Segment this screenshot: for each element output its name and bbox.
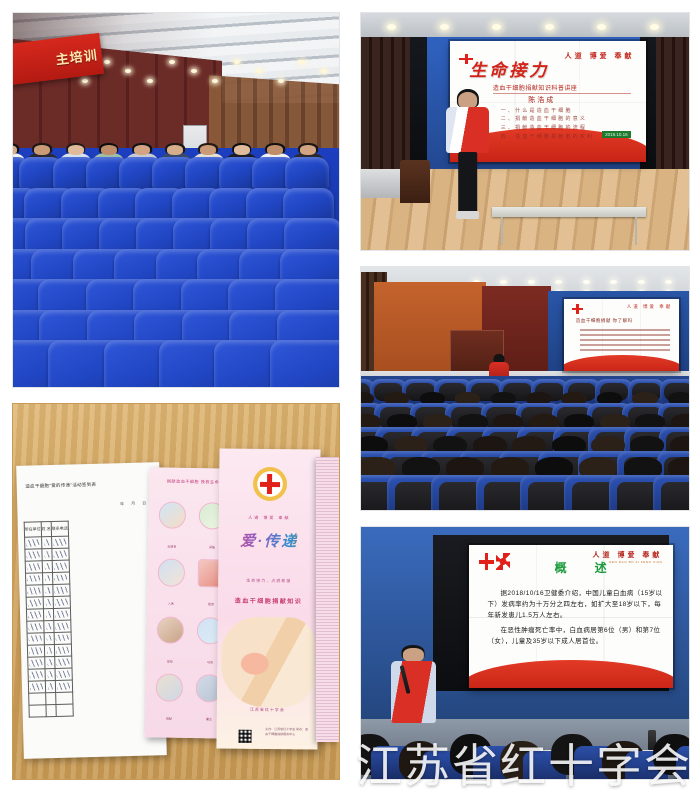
audience-head xyxy=(101,145,117,155)
overview-slide-scene: 人道 博爱 奉献 REN DAO BO AI FENG XIAN 概 述 据20… xyxy=(361,527,689,779)
brochure-organization: 江苏省红十字会 xyxy=(217,706,318,713)
handwriting-mark xyxy=(56,658,70,666)
slide-date-stamp: 2019.10.16 xyxy=(602,131,631,138)
panel-desk-forms-brochures[interactable]: 造血干细胞"爱的传递"活动签到表 年 月 日 所在单位 姓 名 联系电话 捐献造… xyxy=(12,403,340,780)
signin-table: 所在单位 姓 名 联系电话 xyxy=(23,520,73,717)
panel-speaker-overview-slide[interactable]: 人道 博爱 奉献 REN DAO BO AI FENG XIAN 概 述 据20… xyxy=(360,526,690,780)
hall-rear-scene: 人道 博爱 奉献 造血干细胞捐献 你了解吗 xyxy=(361,267,689,510)
auditorium-seat xyxy=(653,475,689,510)
cell-phone xyxy=(52,560,69,572)
ceiling-light-icon xyxy=(299,60,305,64)
cell-empty xyxy=(45,704,55,716)
stage-scene: 人道 博爱 奉献 生命接力 造血干细胞捐献知识科普讲座 陈浩成 一、什么是造血干… xyxy=(361,13,689,250)
brochure-subtitle: 生命接力，点燃希望 xyxy=(219,577,320,584)
cell-phone xyxy=(51,536,68,548)
ceiling-light-icon xyxy=(212,79,218,83)
ceiling-light-icon xyxy=(597,24,606,30)
brochure-photo-cell: 体检 xyxy=(151,612,189,667)
handwriting-mark xyxy=(27,575,40,582)
red-cross-icon xyxy=(479,553,493,570)
audience-head xyxy=(167,145,183,155)
dark-column-left xyxy=(410,37,426,174)
speaker-head xyxy=(403,648,423,661)
desk-scene: 造血干细胞"爱的传递"活动签到表 年 月 日 所在单位 姓 名 联系电话 捐献造… xyxy=(13,404,339,779)
cell-unit xyxy=(25,572,42,584)
handwriting-mark xyxy=(26,539,40,547)
handwriting-mark xyxy=(55,634,68,641)
cell-unit xyxy=(25,584,42,596)
handwriting-mark xyxy=(56,646,69,653)
red-cross-emblem-icon xyxy=(496,553,510,570)
presenter-table xyxy=(492,207,646,216)
brochure-credits: 主办：江苏省红十字会 承办：造血干细胞捐献服务中心 xyxy=(265,727,310,737)
text-line xyxy=(580,339,670,341)
ceiling-light-icon xyxy=(169,60,175,64)
column-header-unit: 所在单位 xyxy=(23,521,40,536)
ceiling-light-icon xyxy=(583,280,590,284)
brochure-stack-edge xyxy=(316,457,339,742)
panel-hall-rear-view[interactable]: 人道 博爱 奉献 造血干细胞捐献 你了解吗 xyxy=(360,266,690,511)
signin-sheet-title: 造血干细胞"爱的传递"活动签到表 xyxy=(25,481,96,489)
auditorium-seat xyxy=(270,340,339,387)
ceiling-light-icon xyxy=(638,280,645,284)
audience-heads-row xyxy=(361,724,689,779)
handwriting-mark xyxy=(28,623,41,630)
ceiling-light-icon xyxy=(147,79,153,83)
cell-phone xyxy=(55,680,72,692)
handwriting-mark xyxy=(46,623,51,630)
handwriting-mark xyxy=(26,551,39,558)
projection-screen: 人道 博爱 奉献 REN DAO BO AI FENG XIAN 概 述 据20… xyxy=(469,545,672,689)
audience-head xyxy=(200,145,216,155)
handwriting-mark xyxy=(55,622,68,629)
audience-head xyxy=(67,145,83,155)
audience-head xyxy=(300,145,316,155)
cell-phone xyxy=(53,632,70,644)
column-header-phone: 联系电话 xyxy=(51,521,68,536)
panel-speaker-stage[interactable]: 人道 博爱 奉献 生命接力 造血干细胞捐献知识科普讲座 陈浩成 一、什么是造血干… xyxy=(360,12,690,251)
brochure-front-cover[interactable]: 人道 博爱 奉献 爱·传递 生命接力，点燃希望 造血干细胞捐献知识 江苏省红十字… xyxy=(217,448,321,749)
handwriting-mark xyxy=(27,599,41,607)
auditorium-scene: 主培训 xyxy=(13,13,339,387)
handwriting-mark xyxy=(44,575,49,582)
handwriting-mark xyxy=(44,551,49,558)
ceiling-light-icon xyxy=(191,69,197,73)
brochure-photo xyxy=(156,616,184,644)
cell-empty xyxy=(28,692,45,704)
signin-sheet-date: 年 月 日 xyxy=(119,500,148,507)
handwriting-mark xyxy=(54,598,68,606)
ceiling-light-icon xyxy=(321,69,327,73)
brochure-photo-caption: 体检 xyxy=(151,659,188,664)
handwriting-mark xyxy=(46,647,51,654)
cell-empty xyxy=(28,704,45,716)
handwriting-mark xyxy=(54,562,67,569)
cell-name xyxy=(44,668,54,680)
handwriting-mark xyxy=(27,587,40,594)
handwriting-mark xyxy=(54,586,67,593)
ceiling-light-icon xyxy=(492,24,501,30)
cell-phone xyxy=(52,584,69,596)
ceiling-light-icon xyxy=(387,24,396,30)
slide-red-swoosh xyxy=(564,355,679,371)
handwriting-mark xyxy=(54,574,67,581)
ceiling-light-icon xyxy=(545,24,554,30)
slide-heading-char-2: 述 xyxy=(595,559,609,576)
handwriting-mark xyxy=(57,682,70,689)
slide-body-lines xyxy=(580,326,670,354)
ceiling-light-icon xyxy=(440,24,449,30)
slide-bullet: 一、什么是造血干细胞 xyxy=(501,107,623,116)
handwriting-mark xyxy=(53,550,66,557)
signin-table-body xyxy=(24,536,73,717)
handwriting-mark xyxy=(46,635,51,642)
handwriting-mark xyxy=(43,539,48,546)
cell-unit xyxy=(27,656,44,668)
cell-name xyxy=(43,620,53,632)
handwriting-mark xyxy=(30,683,43,690)
slide-paragraph: 据2018/10/16卫健委介绍，中国儿童白血病（15岁以下）发病率约为十万分之… xyxy=(488,588,663,622)
column-header-name: 姓 名 xyxy=(40,521,51,536)
slide-heading: 概 述 xyxy=(555,559,609,576)
cell-unit xyxy=(28,680,45,692)
text-line xyxy=(580,344,670,346)
cell-name xyxy=(42,572,52,584)
cell-name xyxy=(41,560,51,572)
cell-name xyxy=(44,644,54,656)
brochure-photo xyxy=(157,559,185,587)
speaker-vest xyxy=(391,661,437,723)
text-line xyxy=(580,334,670,336)
speaker-shoes xyxy=(456,211,480,219)
brochure-photo xyxy=(158,501,186,529)
ceiling-light-icon xyxy=(500,280,507,284)
speaker-jacket xyxy=(446,107,489,154)
table-row-empty xyxy=(28,704,72,717)
panel-auditorium-audience[interactable]: 主培训 xyxy=(12,12,340,388)
handwriting-mark xyxy=(29,659,43,667)
audience-head xyxy=(267,145,283,155)
text-line xyxy=(580,349,670,351)
cell-empty xyxy=(45,692,55,704)
brochure-photo-cell: 入库 xyxy=(152,554,190,609)
cell-name xyxy=(43,632,53,644)
audience-seating xyxy=(13,148,339,387)
cell-phone xyxy=(54,668,71,680)
handwriting-mark xyxy=(29,647,42,654)
cell-phone xyxy=(51,548,68,560)
brochure-title: 爱·传递 xyxy=(219,529,320,551)
cell-phone xyxy=(52,596,69,608)
cell-name xyxy=(41,536,51,548)
qr-code-icon xyxy=(239,730,252,743)
photo-collage: 主培训 人道 博爱 奉献 生命接力 造血干细胞捐献知识科普讲座 陈浩成 xyxy=(0,0,700,798)
cell-unit xyxy=(26,620,43,632)
ceiling-light-icon xyxy=(278,79,284,83)
cell-unit xyxy=(24,548,41,560)
slide-subtitle: 造血干细胞捐献知识科普讲座 xyxy=(493,83,631,94)
ceiling-light-icon xyxy=(256,69,262,73)
org-motto: 人道 博爱 奉献 xyxy=(627,304,673,310)
handwriting-mark xyxy=(45,611,50,618)
cell-unit xyxy=(24,560,41,572)
handwriting-mark xyxy=(45,587,50,594)
auditorium-seat xyxy=(285,157,329,189)
ceiling-light-icon xyxy=(125,69,131,73)
handwriting-mark xyxy=(55,610,68,617)
handwriting-mark xyxy=(47,683,52,690)
table-header-row: 所在单位 姓 名 联系电话 xyxy=(23,521,68,537)
auditorium-seat xyxy=(676,746,689,779)
slide-body: 据2018/10/16卫健委介绍，中国儿童白血病（15岁以下）发病率约为十万分之… xyxy=(488,588,663,648)
handwriting-mark xyxy=(47,671,52,678)
slide-heading-char-1: 概 xyxy=(555,559,569,576)
brochure-photo-cell: 志愿者 xyxy=(153,497,191,552)
text-line xyxy=(580,329,670,331)
cell-phone xyxy=(52,572,69,584)
handwriting-mark xyxy=(29,671,42,678)
cell-empty xyxy=(55,704,72,716)
cell-unit xyxy=(27,644,44,656)
audience-head xyxy=(34,145,50,155)
brochure-slogan-top: 人道 博爱 奉献 xyxy=(219,514,320,521)
brochure-photo-caption: 志愿者 xyxy=(153,544,190,549)
handwriting-mark xyxy=(28,611,41,618)
ceiling-light-icon xyxy=(610,280,617,284)
handwriting-mark xyxy=(28,635,41,642)
ceiling-light-icon xyxy=(82,79,88,83)
handwriting-mark xyxy=(53,538,67,546)
brochure-photo-caption: 入库 xyxy=(152,601,189,606)
cell-unit xyxy=(26,608,43,620)
ceiling-light-icon xyxy=(555,280,562,284)
brochure-photo-caption: 捐献 xyxy=(150,716,187,721)
cell-name xyxy=(42,584,52,596)
ceiling-light-icon xyxy=(528,280,535,284)
cell-name xyxy=(42,596,52,608)
cell-phone xyxy=(53,608,70,620)
audience-head xyxy=(134,145,150,155)
handwriting-mark xyxy=(26,563,39,570)
cell-phone xyxy=(54,644,71,656)
projection-screen: 人道 博爱 奉献 造血干细胞捐献 你了解吗 xyxy=(564,299,679,372)
cell-name xyxy=(41,548,51,560)
cell-unit xyxy=(26,632,43,644)
slide-bullet: 二、捐献造血干细胞的意义 xyxy=(501,115,623,124)
cell-name xyxy=(43,608,53,620)
audience-head xyxy=(234,145,250,155)
handwriting-mark xyxy=(45,599,50,606)
ceiling-light-icon xyxy=(104,60,110,64)
handwriting-mark xyxy=(44,563,49,570)
red-cross-logo-icon xyxy=(253,467,288,502)
wood-panel-right xyxy=(653,37,689,174)
brochure-topic: 造血干细胞捐献知识 xyxy=(218,595,319,605)
cell-unit xyxy=(25,596,42,608)
wooden-chair xyxy=(400,160,430,203)
slide-heading: 造血干细胞捐献 你了解吗 xyxy=(576,318,670,324)
side-desk xyxy=(361,169,400,197)
speaker-trousers xyxy=(458,152,478,212)
audience-seating xyxy=(361,376,689,510)
slide-title: 生命接力 xyxy=(469,56,607,81)
event-banner-text: 主培训 xyxy=(55,45,99,69)
speaker-figure xyxy=(446,89,489,226)
cell-unit xyxy=(24,536,41,548)
ceiling-light-icon xyxy=(234,60,240,64)
red-cross-icon xyxy=(260,474,280,494)
ceiling-light-icon xyxy=(665,280,672,284)
wood-panel-left xyxy=(361,37,413,174)
cell-unit xyxy=(27,668,44,680)
cell-empty xyxy=(55,692,72,704)
handwriting-mark xyxy=(56,670,69,677)
cell-phone xyxy=(54,656,71,668)
ceiling-light-icon xyxy=(650,24,659,30)
cell-name xyxy=(44,656,54,668)
slide-presenter: 陈浩成 xyxy=(528,95,555,105)
handwriting-mark xyxy=(47,659,52,666)
slide-paragraph: 在恶性肿瘤死亡率中，白血病居第6位（男）和第7位（女），儿童及35岁以下成人居首… xyxy=(488,625,663,647)
cell-phone xyxy=(53,620,70,632)
brochure-photo xyxy=(155,674,183,702)
hands-illustration xyxy=(221,617,315,708)
brochure-photo-cell: 捐献 xyxy=(150,669,188,724)
red-cross-icon xyxy=(572,304,582,313)
cell-name xyxy=(45,680,55,692)
